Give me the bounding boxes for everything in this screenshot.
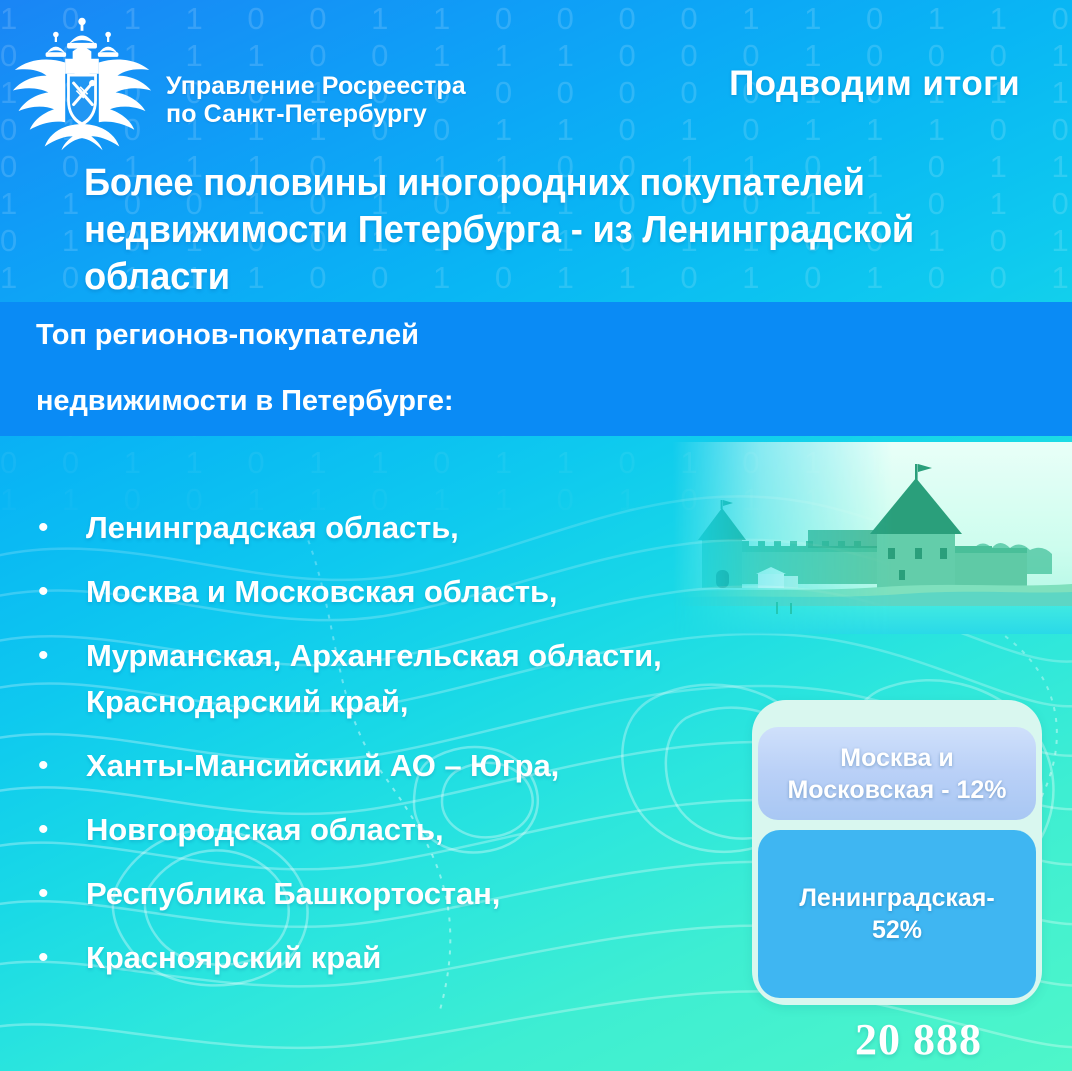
- list-item-label: Ханты-Мансийский АО – Югра,: [86, 743, 722, 789]
- stat-cards-container: Москва и Московская - 12% Ленинградская-…: [752, 700, 1042, 1005]
- bullet-marker-icon: •: [32, 935, 86, 981]
- list-item: •Республика Башкортостан,: [32, 871, 722, 917]
- list-item-label: Ленинградская область,: [86, 505, 722, 551]
- page-title: Более половины иногородних покупателей н…: [84, 160, 1020, 301]
- org-name-line-1: Управление Росреестра: [166, 72, 466, 100]
- subtitle-line-1: Топ регионов-покупателей: [36, 319, 419, 352]
- bullet-marker-icon: •: [32, 871, 86, 917]
- list-item-label: Новгородская область,: [86, 807, 722, 853]
- bullet-marker-icon: •: [32, 569, 86, 615]
- kicker-title: Подводим итоги: [729, 64, 1020, 104]
- total-count: 20 888: [855, 1014, 982, 1065]
- poster-header: Управление Росреестра по Санкт-Петербург…: [0, 0, 1072, 160]
- bullet-marker-icon: •: [32, 743, 86, 789]
- organization-name: Управление Росреестра по Санкт-Петербург…: [166, 72, 466, 128]
- list-item-label: Республика Башкортостан,: [86, 871, 722, 917]
- bullet-marker-icon: •: [32, 807, 86, 853]
- list-item: •Москва и Московская область,: [32, 569, 722, 615]
- subtitle-band: Топ регионов-покупателей недвижимости в …: [0, 302, 1072, 436]
- list-item-label: Красноярский край: [86, 935, 722, 981]
- stat-card-moscow: Москва и Московская - 12%: [758, 727, 1036, 820]
- list-item: •Красноярский край: [32, 935, 722, 981]
- list-item: •Новгородская область,: [32, 807, 722, 853]
- org-name-line-2: по Санкт-Петербургу: [166, 100, 466, 128]
- stat-card-leningrad: Ленинградская- 52%: [758, 830, 1036, 998]
- list-item: •Мурманская, Архангельская области, Крас…: [32, 633, 722, 725]
- bullet-marker-icon: •: [32, 505, 86, 551]
- list-item: •Ленинградская область,: [32, 505, 722, 551]
- subtitle-line-2: недвижимости в Петербурге:: [36, 385, 454, 418]
- list-item-label: Мурманская, Архангельская области, Красн…: [86, 633, 722, 725]
- oreshek-fortress-photo: [672, 442, 1072, 634]
- rosreestr-double-eagle-logo-icon: [6, 14, 158, 154]
- regions-list: •Ленинградская область,•Москва и Московс…: [32, 505, 722, 999]
- bullet-marker-icon: •: [32, 633, 86, 679]
- list-item-label: Москва и Московская область,: [86, 569, 722, 615]
- list-item: •Ханты-Мансийский АО – Югра,: [32, 743, 722, 789]
- infographic-poster: 1 0 1 1 0 0 1 1 0 0 0 0 1 1 0 1 1 0 0 1 …: [0, 0, 1072, 1071]
